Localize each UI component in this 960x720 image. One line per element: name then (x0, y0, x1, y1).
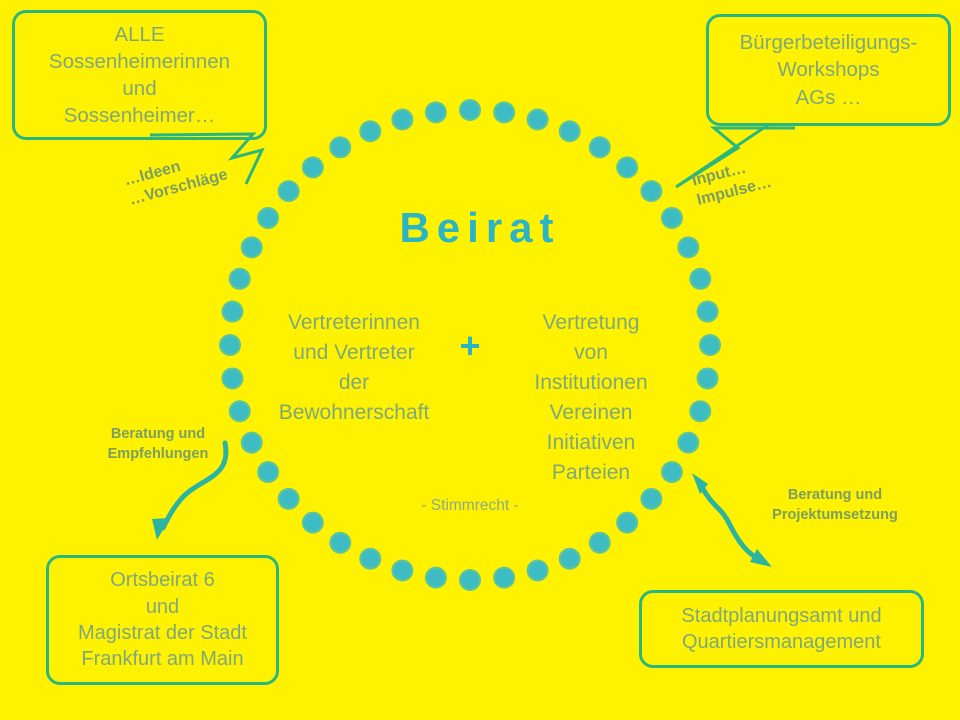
ring-dot-core (691, 402, 709, 420)
ring-dot (616, 512, 638, 534)
ring-dot (425, 101, 447, 123)
ring-dot-core (691, 270, 709, 288)
ring-dot-core (259, 463, 277, 481)
ring-dot (559, 548, 581, 570)
diagram-canvas: ALLE Sossenheimerinnen und Sossenheimer…… (0, 0, 960, 720)
ring-dot-core (529, 111, 547, 129)
ring-dot-core (231, 402, 249, 420)
ring-dot (229, 400, 251, 422)
ring-dot-core (561, 550, 579, 568)
center-footnote-stimmrecht: - Stimmrecht - (340, 497, 600, 515)
ring-dot-core (331, 139, 349, 157)
ring-dot (527, 559, 549, 581)
arrow-label-beratung-projektumsetzung: Beratung und Projektumsetzung (740, 486, 930, 525)
ring-dot-core (495, 569, 513, 587)
ring-dot (589, 136, 611, 158)
box-stadtplanungsamt-quartiersmanagement[interactable]: Stadtplanungsamt und Quartiersmanagement (639, 590, 924, 668)
center-column-institutionen: Vertretung von Institutionen Vereinen In… (496, 308, 686, 488)
ring-dot (329, 136, 351, 158)
speech-bubble-workshops-text: Bürgerbeteiligungs- Workshops AGs … (709, 29, 948, 110)
arrowhead-down-right (750, 549, 772, 567)
ring-dot (425, 567, 447, 589)
tail-label-input-impulse: Input… Impulse… (690, 154, 774, 211)
ring-dot-core (394, 562, 412, 580)
ring-dot-core (495, 104, 513, 122)
ring-dot-core (231, 270, 249, 288)
ring-dot (359, 120, 381, 142)
ring-dot-core (362, 122, 380, 140)
ring-dot-core (699, 303, 717, 321)
ring-dot (359, 548, 381, 570)
ring-dot (221, 367, 243, 389)
speech-bubble-buergerbeteiligungs-workshops[interactable]: Bürgerbeteiligungs- Workshops AGs … (706, 14, 951, 126)
ring-dot-core (618, 159, 636, 177)
ring-dot-core (427, 104, 445, 122)
ring-dot (219, 334, 241, 356)
tail-label-ideen-vorschlaege: …Ideen …Vorschläge (122, 146, 230, 211)
ring-dot-core (643, 490, 661, 508)
ring-dot (493, 567, 515, 589)
ring-dot-core (699, 370, 717, 388)
ring-dot-core (394, 111, 412, 129)
ring-dot (589, 532, 611, 554)
ring-dot-core (643, 182, 661, 200)
ring-dot (616, 156, 638, 178)
ring-dot (278, 180, 300, 202)
ring-dot (229, 268, 251, 290)
ring-dot (459, 99, 481, 121)
ring-dot (459, 569, 481, 591)
ring-dot-core (280, 182, 298, 200)
ring-dot (257, 461, 279, 483)
arrow-label-beratung-empfehlungen: Beratung und Empfehlungen (78, 425, 238, 464)
center-column-bewohnerschaft: Vertreterinnen und Vertreter der Bewohne… (258, 308, 450, 428)
ring-dot-core (701, 336, 719, 354)
ring-dot (699, 334, 721, 356)
ring-dot-core (243, 434, 261, 452)
ring-dot-core (461, 571, 479, 589)
ring-dot (689, 268, 711, 290)
ring-dot (689, 400, 711, 422)
ring-dot (329, 532, 351, 554)
box-ortsbeirat-magistrat[interactable]: Ortsbeirat 6 und Magistrat der Stadt Fra… (46, 555, 279, 685)
speech-bubble-alle-text: ALLE Sossenheimerinnen und Sossenheimer… (15, 21, 264, 129)
ring-dot-core (591, 139, 609, 157)
ring-dot (302, 156, 324, 178)
ring-dot (527, 109, 549, 131)
center-title-beirat: Beirat (0, 204, 960, 252)
arrowhead-down-left (152, 518, 170, 540)
ring-dot-core (224, 303, 242, 321)
ring-dot (241, 432, 263, 454)
ring-dot (391, 109, 413, 131)
ring-dot-core (221, 336, 239, 354)
ring-dot-core (427, 569, 445, 587)
ring-dot-core (362, 550, 380, 568)
ring-dot (697, 367, 719, 389)
box-ortsbeirat-text: Ortsbeirat 6 und Magistrat der Stadt Fra… (49, 567, 276, 673)
arrowhead-up-left (692, 473, 708, 494)
ring-dot-core (591, 534, 609, 552)
ring-dot-core (331, 534, 349, 552)
speech-bubble-alle-sossenheimer[interactable]: ALLE Sossenheimerinnen und Sossenheimer… (12, 10, 267, 140)
ring-dot (640, 180, 662, 202)
ring-dot-core (529, 562, 547, 580)
ring-dot (493, 101, 515, 123)
ring-dot (559, 120, 581, 142)
ring-dot (391, 559, 413, 581)
ring-dot-core (304, 159, 322, 177)
ring-dot-core (561, 122, 579, 140)
ring-dot-core (618, 514, 636, 532)
ring-dot-core (224, 370, 242, 388)
ring-dot (697, 301, 719, 323)
ring-dot-core (304, 514, 322, 532)
ring-dot-core (461, 101, 479, 119)
ring-dot-core (280, 490, 298, 508)
ring-dot (302, 512, 324, 534)
ring-dot (640, 488, 662, 510)
ring-dot (221, 301, 243, 323)
ring-dot (278, 488, 300, 510)
box-stadtplanungsamt-text: Stadtplanungsamt und Quartiersmanagement (642, 603, 921, 656)
